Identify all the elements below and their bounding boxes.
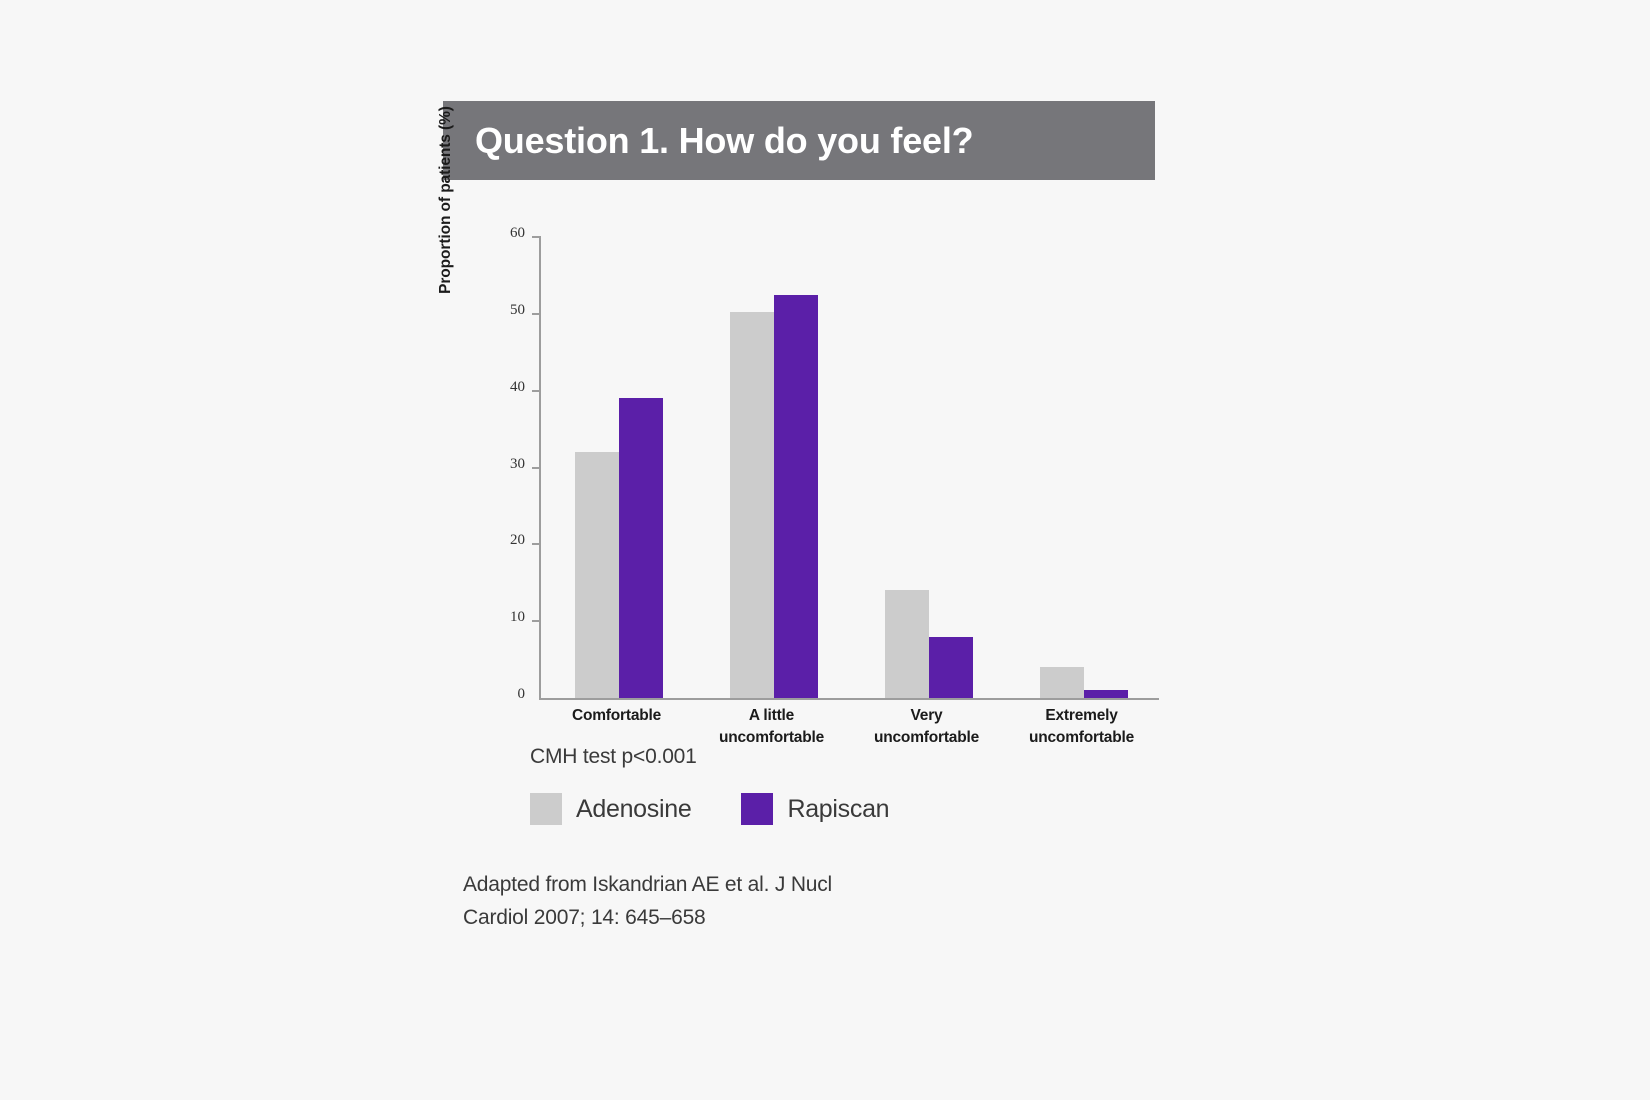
y-axis-tick-mark [532,313,541,315]
y-axis-tick: 20 [465,543,541,544]
bar-rapiscan-2 [929,637,973,698]
y-axis-tick-label: 30 [485,456,525,473]
y-axis-tick-label: 40 [485,379,525,396]
y-axis-tick-mark [532,236,541,238]
bar-group [851,237,1006,698]
y-axis-tick: 40 [465,390,541,391]
y-axis-tick: 30 [465,467,541,468]
y-axis-tick: 10 [465,620,541,621]
x-axis-label-line: Very [842,705,1012,727]
x-axis-label-line: uncomfortable [687,727,857,749]
legend-swatch-rapiscan [741,793,773,825]
x-axis-label-line: uncomfortable [997,727,1167,749]
legend-item-adenosine: Adenosine [530,793,691,825]
y-axis-tick: 60 [465,236,541,237]
y-axis-title: Proportion of patients (%) [437,80,455,320]
bar-group [541,237,696,698]
x-axis-label-line: Extremely [997,705,1167,727]
x-axis-label-line: Comfortable [532,705,702,727]
legend-label-adenosine: Adenosine [576,795,691,824]
bar-group [1006,237,1161,698]
x-axis-label-0: Comfortable [532,705,702,727]
bar-adenosine-1 [730,312,774,698]
source-citation: Adapted from Iskandrian AE et al. J Nucl… [463,868,983,934]
y-axis-tick-label: 10 [485,609,525,626]
chart-legend: AdenosineRapiscan [530,793,939,825]
y-axis-tick-mark [532,620,541,622]
bar-rapiscan-1 [774,295,818,698]
y-axis-tick-mark [532,390,541,392]
y-axis-tick-label: 0 [485,686,525,703]
x-axis-label-line: uncomfortable [842,727,1012,749]
x-axis-label-1: A littleuncomfortable [687,705,857,749]
bar-adenosine-3 [1040,667,1084,698]
y-axis-tick-mark [532,467,541,469]
source-line-2: Cardiol 2007; 14: 645–658 [463,901,983,934]
legend-item-rapiscan: Rapiscan [741,793,889,825]
slide-title: Question 1. How do you feel? [475,120,973,162]
slide-title-bar: Question 1. How do you feel? [443,101,1155,180]
bar-adenosine-2 [885,590,929,698]
y-axis-tick: 50 [465,313,541,314]
slide-canvas: Question 1. How do you feel? Proportion … [0,0,1650,1100]
y-axis-tick-mark [532,543,541,545]
legend-label-rapiscan: Rapiscan [787,795,889,824]
x-axis-label-3: Extremelyuncomfortable [997,705,1167,749]
source-line-1: Adapted from Iskandrian AE et al. J Nucl [463,868,983,901]
statistical-test-note: CMH test p<0.001 [530,745,697,769]
y-axis-tick-label: 60 [485,225,525,242]
plot-area: 0102030405060 [539,237,1159,700]
bar-adenosine-0 [575,452,619,698]
legend-swatch-adenosine [530,793,562,825]
bar-chart: Proportion of patients (%) 0102030405060… [443,210,1203,750]
y-axis-tick: 0 [465,697,541,698]
bar-rapiscan-0 [619,398,663,698]
y-axis-tick-label: 20 [485,532,525,549]
bar-series-container [541,237,1159,698]
bar-group [696,237,851,698]
x-axis-label-line: A little [687,705,857,727]
x-axis-label-2: Veryuncomfortable [842,705,1012,749]
y-axis-tick-label: 50 [485,302,525,319]
bar-rapiscan-3 [1084,690,1128,698]
